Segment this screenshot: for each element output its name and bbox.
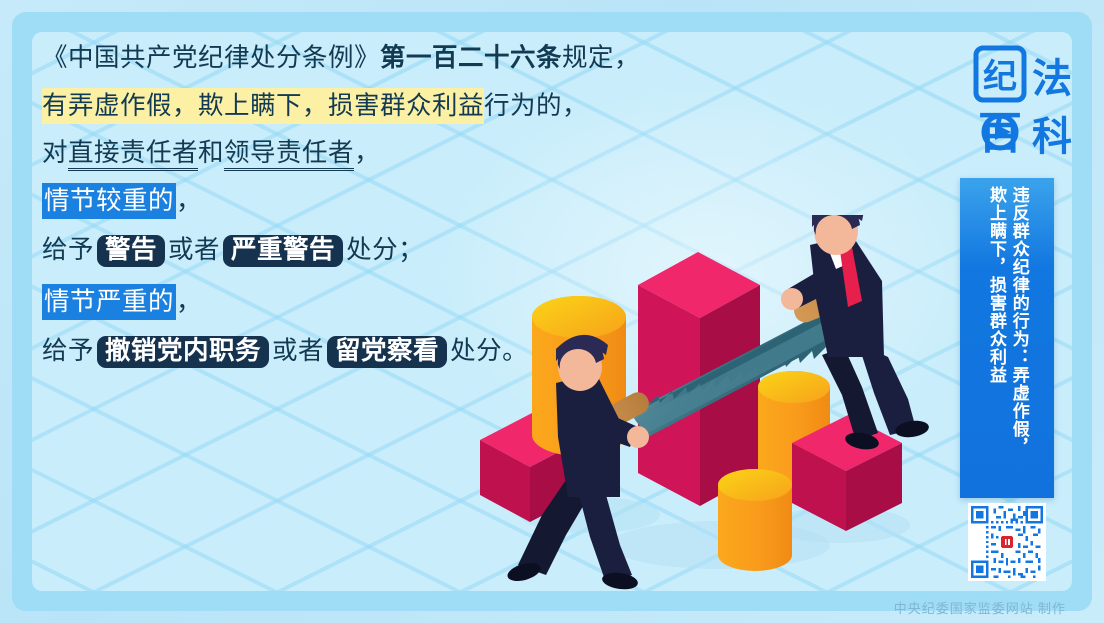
brand-rail: 纪 法 百 科	[972, 44, 1076, 164]
banner-column-right: 违反群众纪律的行为：弄虚作假，	[1008, 186, 1029, 490]
badge-serious-warning: 严重警告	[223, 235, 343, 267]
text-line-1: 《中国共产党纪律处分条例》第一百二十六条规定，	[42, 45, 682, 71]
line7-middle: 或者	[272, 336, 324, 365]
line3-middle: 和	[198, 138, 224, 167]
line5-tail: 处分；	[346, 235, 424, 264]
text-line-3: 对直接责任者和领导责任者，	[42, 140, 682, 166]
poster-canvas: 《中国共产党纪律处分条例》第一百二十六条规定， 有弄虚作假，欺上瞒下，损害群众利…	[0, 0, 1104, 623]
qr-code-pattern	[971, 506, 1043, 578]
underline-leadership-responsible: 领导责任者	[224, 138, 354, 171]
line4-tail: ，	[176, 186, 202, 215]
badge-probation-within-party: 留党察看	[327, 336, 447, 368]
line3-prefix: 对	[42, 138, 68, 167]
underline-direct-responsible: 直接责任者	[68, 138, 198, 171]
highlight-severity-moderate: 情节较重的	[42, 183, 176, 219]
qr-center-logo	[1001, 536, 1013, 548]
text-line-4: 情节较重的，	[42, 188, 682, 214]
line6-tail: ，	[176, 287, 202, 316]
line3-tail: ，	[354, 138, 380, 167]
regulation-title: 《中国共产党纪律处分条例》	[42, 43, 380, 72]
orange-cylinder-front	[718, 469, 792, 571]
vertical-topic-banner: 违反群众纪律的行为：弄虚作假， 欺上瞒下，损害群众利益	[960, 178, 1054, 498]
logo-char-ke: 科	[1032, 114, 1072, 159]
footer-credit: 中央纪委国家监委网站 制作	[894, 598, 1066, 617]
line7-prefix: 给予	[42, 336, 94, 365]
badge-removal-from-party-post: 撤销党内职务	[97, 336, 269, 368]
article-number: 第一百二十六条	[380, 43, 562, 72]
logo-jifa-baike[interactable]: 纪 法 百 科	[972, 44, 1076, 164]
line1-tail: 规定，	[562, 43, 640, 72]
qr-code[interactable]	[968, 503, 1046, 581]
line5-prefix: 给予	[42, 235, 94, 264]
badge-warning: 警告	[97, 235, 165, 267]
line5-middle: 或者	[168, 235, 220, 264]
illustration-sawing-bar-chart	[470, 215, 940, 615]
logo-char-ji: 纪	[983, 58, 1017, 96]
banner-column-left: 欺上瞒下，损害群众利益	[985, 186, 1006, 490]
text-line-2: 有弄虚作假，欺上瞒下，损害群众利益行为的，	[42, 93, 682, 119]
logo-char-fa: 法	[1032, 56, 1072, 101]
highlight-severity-serious: 情节严重的	[42, 284, 176, 320]
highlight-violation-behavior: 有弄虚作假，欺上瞒下，损害群众利益	[42, 88, 484, 124]
line2-tail: 行为的，	[484, 91, 588, 120]
